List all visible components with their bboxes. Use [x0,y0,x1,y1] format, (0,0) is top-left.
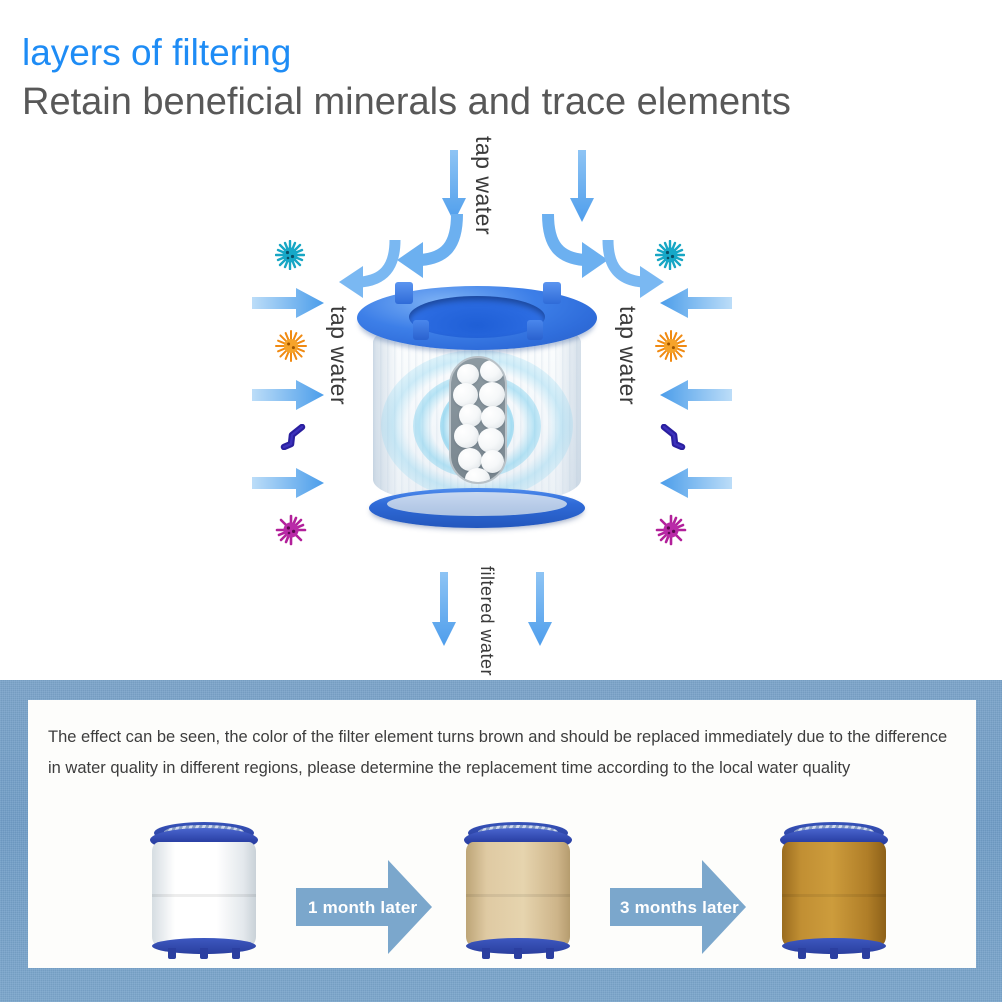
virus-orange-icon-right [655,330,687,362]
stage-leg-left [482,948,490,959]
filter-cap-bore [409,296,545,338]
transition-label-1-month: 1 month later [308,898,417,918]
inflow-arrow-right-2 [660,380,732,410]
stage-body-seam [152,894,256,897]
stage-leg-left [168,948,176,959]
filter-base-inner [387,492,567,516]
stage-leg-right [232,948,240,959]
filtration-diagram: tap water tap water tap water filtered w… [0,128,1002,680]
filter-stage-new [146,820,262,960]
label-tap-water-left: tap water [325,306,352,405]
bacteria-rod-icon-left [278,424,306,450]
replacement-paragraph: The effect can be seen, the color of the… [48,722,962,784]
inflow-arrow-right-3 [660,468,732,498]
stage-leg-right [546,948,554,959]
header: layers of filtering Retain beneficial mi… [0,0,1002,140]
ceramic-ball-capsule [449,356,507,484]
virus-teal-icon-right [655,240,685,270]
inflow-arrow-left-1 [252,288,324,318]
inflow-arrow-left-3 [252,468,324,498]
bacteria-rod-icon-right [660,424,688,450]
inflow-arrow-right-1 [660,288,732,318]
virus-orange-icon-left [275,330,307,362]
stage-leg-mid [200,948,208,959]
label-filtered-water: filtered water [476,566,497,676]
stage-leg-mid [514,948,522,959]
stage-leg-mid [830,948,838,959]
cap-tab-left [395,282,413,304]
cap-tab-front-right [527,320,543,340]
inflow-arrow-left-2 [252,380,324,410]
virus-magenta-icon-left [275,514,307,546]
virus-magenta-icon-right [655,514,687,546]
label-tap-water-right: tap water [614,306,641,405]
cap-tab-right [543,282,561,304]
transition-label-3-months: 3 months later [620,898,739,918]
filter-stage-1-month [460,820,576,960]
stage-leg-right [862,948,870,959]
stage-body-seam [782,894,886,897]
page-title: Retain beneficial minerals and trace ele… [22,80,791,124]
filter-aging-sequence: 1 month later 3 months later [28,818,976,968]
replacement-card: The effect can be seen, the color of the… [28,700,976,968]
filter-stage-3-months [776,820,892,960]
replacement-panel: The effect can be seen, the color of the… [0,680,1002,1002]
label-tap-water-top: tap water [470,136,497,235]
filter-cartridge-illustration [357,276,597,536]
virus-teal-icon-left [275,240,305,270]
flow-arrow-out-left [431,572,457,646]
stage-leg-left [798,948,806,959]
page-title-accent: layers of filtering [22,33,291,73]
flow-arrow-out-right [527,572,553,646]
cap-tab-front-left [413,320,429,340]
stage-body-seam [466,894,570,897]
